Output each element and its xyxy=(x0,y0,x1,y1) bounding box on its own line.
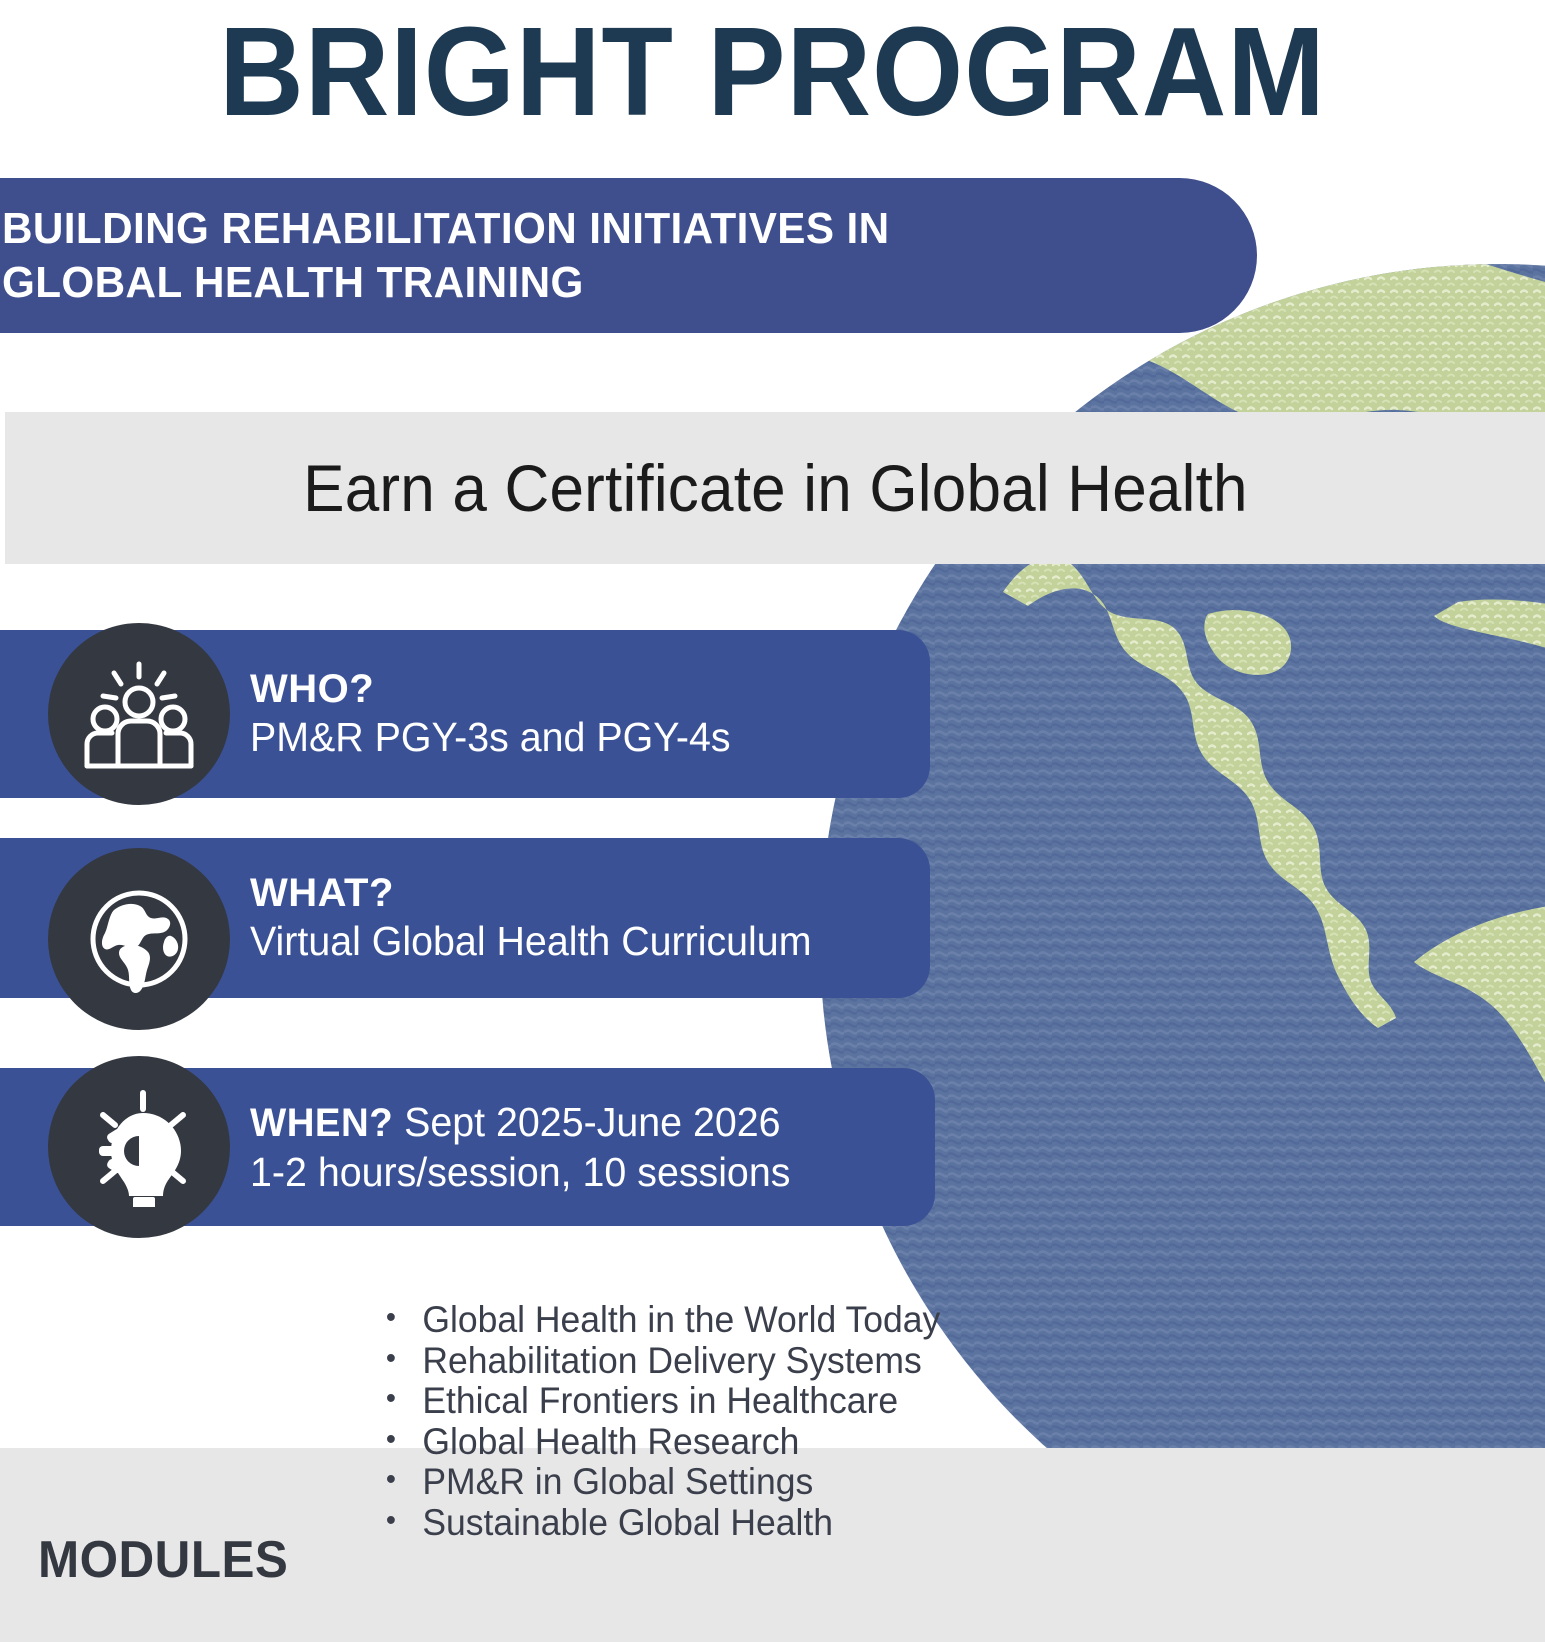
module-item: Global Health in the World Today xyxy=(382,1300,940,1341)
info-pill-who-heading: WHO? xyxy=(250,666,908,713)
infographic-canvas: BRIGHT PROGRAM BUILDING REHABILITATION I… xyxy=(0,0,1545,1642)
certificate-banner: Earn a Certificate in Global Health xyxy=(5,412,1545,564)
certificate-text: Earn a Certificate in Global Health xyxy=(303,450,1248,526)
info-pill-who-body: WHO? PM&R PGY-3s and PGY-4s xyxy=(250,630,908,798)
subtitle-line-2: GLOBAL HEALTH TRAINING xyxy=(2,256,890,310)
info-pill-when-line-1: WHEN? Sept 2025-June 2026 xyxy=(250,1097,886,1149)
modules-label: MODULES xyxy=(38,1530,288,1590)
info-pill-when-detail-2: 1-2 hours/session, 10 sessions xyxy=(250,1148,886,1197)
subtitle-banner: BUILDING REHABILITATION INITIATIVES IN G… xyxy=(0,178,1257,333)
lightbulb-icon xyxy=(48,1056,230,1238)
subtitle-line-1: BUILDING REHABILITATION INITIATIVES IN xyxy=(2,202,890,256)
subtitle-text: BUILDING REHABILITATION INITIATIVES IN G… xyxy=(2,202,890,309)
page-title: BRIGHT PROGRAM xyxy=(54,6,1491,138)
info-pill-what-body: WHAT? Virtual Global Health Curriculum xyxy=(250,838,908,998)
info-pill-when-detail: Sept 2025-June 2026 xyxy=(404,1099,780,1145)
info-pill-what-detail: Virtual Global Health Curriculum xyxy=(250,917,882,966)
people-group-icon xyxy=(48,623,230,805)
module-item: PM&R in Global Settings xyxy=(382,1462,940,1503)
module-item: Rehabilitation Delivery Systems xyxy=(382,1341,940,1382)
module-item: Global Health Research xyxy=(382,1422,940,1463)
info-pill-who-detail: PM&R PGY-3s and PGY-4s xyxy=(250,713,882,762)
module-item: Ethical Frontiers in Healthcare xyxy=(382,1381,940,1422)
module-item: Sustainable Global Health xyxy=(382,1503,940,1544)
info-pill-what-heading: WHAT? xyxy=(250,870,908,917)
info-pill-when-body: WHEN? Sept 2025-June 2026 1-2 hours/sess… xyxy=(250,1068,913,1226)
globe-icon xyxy=(48,848,230,1030)
info-pill-when-heading: WHEN? xyxy=(250,1101,393,1145)
modules-list: Global Health in the World Today Rehabil… xyxy=(382,1300,964,1543)
